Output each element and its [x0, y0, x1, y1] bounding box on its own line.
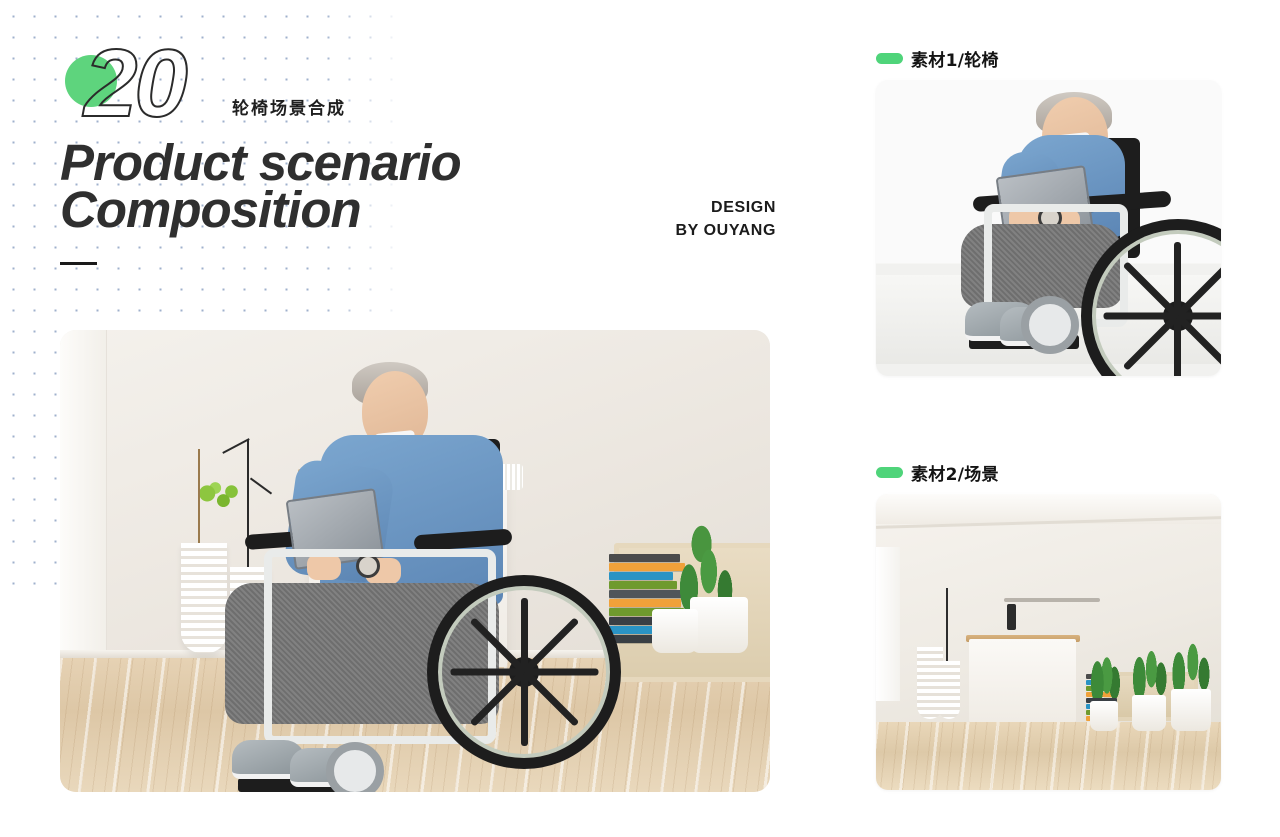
main-composite-image[interactable]	[60, 330, 770, 792]
wheel-spoke	[521, 598, 528, 672]
scene-plant-foliage-mid	[1125, 634, 1173, 698]
green-pill-icon	[876, 53, 903, 64]
room-wall-left-return	[60, 330, 107, 663]
byline: DESIGN BY OUYANG	[620, 196, 776, 242]
isolated-person-with-wheelchair	[973, 92, 1166, 347]
ribbed-vase-large	[181, 543, 227, 653]
wheelchair-front-caster	[1021, 296, 1079, 354]
source-panel-2: 素材2/场景	[876, 460, 1221, 790]
source-image-scene[interactable]	[876, 494, 1221, 790]
wheel-spoke	[1175, 314, 1221, 371]
byline-line-2: BY OUYANG	[620, 219, 776, 242]
scene-ribbed-vase-small	[938, 661, 960, 719]
wheel-spoke	[1104, 313, 1178, 320]
section-number: 20	[84, 36, 185, 132]
wheel-spoke	[1123, 261, 1180, 318]
scene-plant-pot-large	[1171, 689, 1211, 731]
floor-plant-pot-small	[652, 609, 698, 653]
wheel-spoke	[524, 668, 598, 675]
section-number-caption: 轮椅场景合成	[232, 94, 346, 119]
wheelchair-rear-wheel	[427, 575, 621, 769]
scene-wall-rail	[1004, 598, 1101, 602]
wheel-spoke	[1123, 314, 1180, 371]
scene-plant-pot-mid	[1132, 695, 1166, 731]
scene-bottle	[1007, 604, 1016, 630]
source-panel-1-label: 素材1/轮椅	[876, 46, 1221, 71]
wheel-spoke	[470, 617, 527, 674]
byline-line-1: DESIGN	[620, 196, 776, 219]
wheel-spoke	[522, 669, 579, 726]
scene-window	[876, 547, 900, 701]
source-panel-1: 素材1/轮椅	[876, 46, 1221, 376]
source-image-wheelchair[interactable]	[876, 80, 1221, 376]
wheel-spoke	[1175, 261, 1221, 318]
wheel-spoke	[1174, 242, 1181, 316]
source-panel-2-label: 素材2/场景	[876, 460, 1221, 485]
wheel-spoke	[450, 668, 524, 675]
wheel-spoke	[1174, 316, 1181, 376]
scene-plant-foliage-left	[1086, 648, 1124, 698]
scene-plant-pot-small	[1090, 701, 1118, 731]
wheelchair-front-caster	[326, 742, 384, 792]
source-panel-2-label-text: 素材2/场景	[911, 460, 999, 485]
scene-white-sideboard	[969, 639, 1076, 722]
poster-canvas: 20 轮椅场景合成 Product scenario Composition D…	[0, 0, 1280, 837]
seated-person-with-wheelchair	[245, 362, 572, 787]
scene-wooden-floor	[876, 722, 1221, 790]
wheel-spoke	[470, 669, 527, 726]
source-panel-1-label-text: 素材1/轮椅	[911, 46, 999, 71]
green-pill-icon	[876, 467, 903, 478]
floor-plant-pot-large	[690, 597, 748, 653]
section-number-row: 20 轮椅场景合成	[60, 44, 820, 134]
title-underline-rule	[60, 262, 97, 265]
wheel-spoke	[522, 617, 579, 674]
wheel-spoke	[521, 672, 528, 746]
scene-dry-branch	[946, 588, 948, 666]
